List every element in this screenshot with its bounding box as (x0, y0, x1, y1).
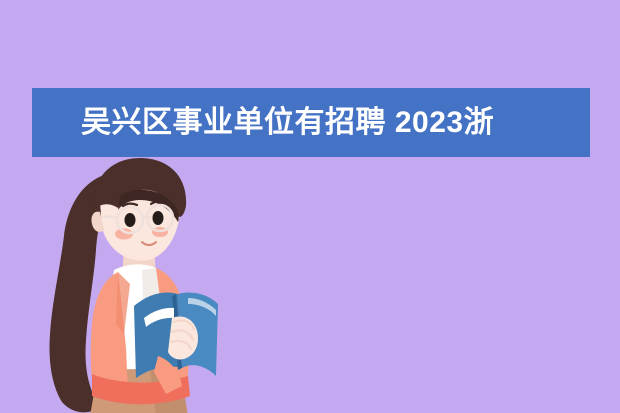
girl-reading-illustration (38, 158, 228, 413)
glasses-temple (103, 217, 117, 219)
eye-right (153, 211, 164, 225)
page-title: 吴兴区事业单位有招聘 2023浙 (32, 108, 494, 138)
title-banner: 吴兴区事业单位有招聘 2023浙 (32, 88, 590, 157)
eye-left (125, 213, 136, 227)
poster-canvas: 吴兴区事业单位有招聘 2023浙 (0, 0, 620, 413)
